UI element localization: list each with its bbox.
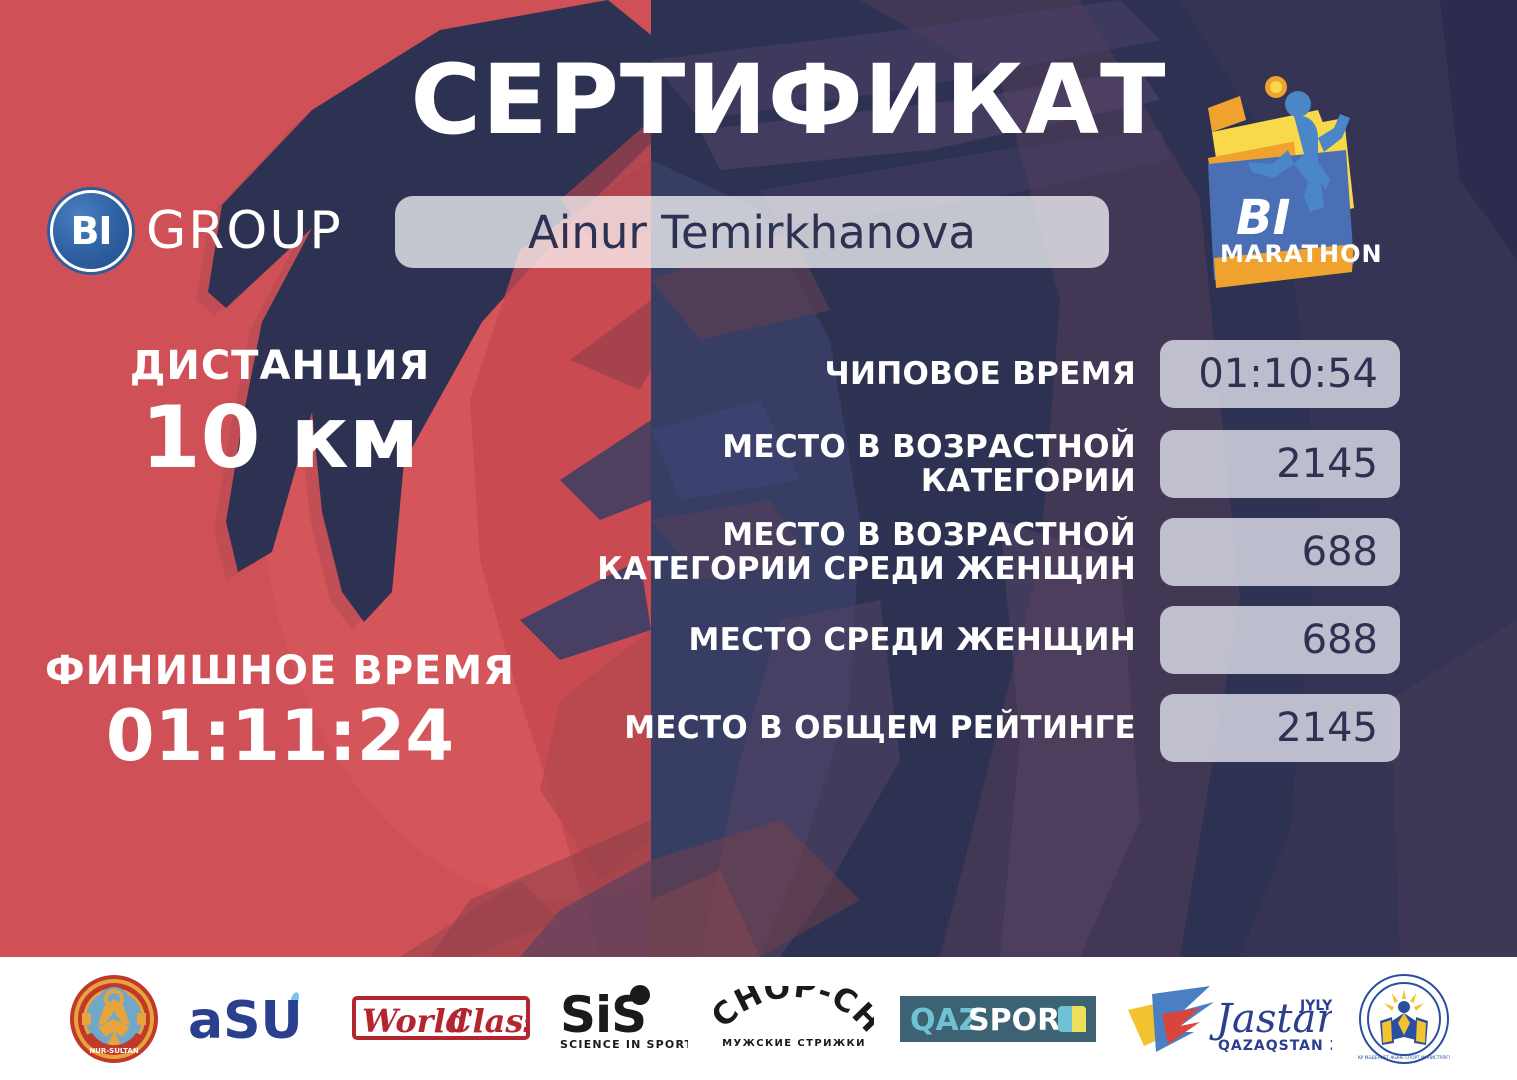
- result-value-pill: 688: [1160, 518, 1400, 586]
- stat-finish-time-label: ФИНИШНОЕ ВРЕМЯ: [0, 650, 560, 693]
- result-row-chip-time: ЧИПОВОЕ ВРЕМЯ 01:10:54: [520, 340, 1400, 408]
- bi-badge-icon: BI: [50, 190, 132, 272]
- participant-name: Ainur Temirkhanova: [528, 206, 976, 259]
- sponsor-world-class: World Class: [352, 973, 530, 1065]
- result-label: МЕСТО В ВОЗРАСТНОЙ КАТЕГОРИИ СРЕДИ ЖЕНЩИ…: [520, 518, 1160, 586]
- ministry-label: ҚР МӘДЕНИЕТ ЖӘНЕ СПОРТ МИНИСТРЛІГІ: [1358, 1055, 1450, 1060]
- result-value-pill: 01:10:54: [1160, 340, 1400, 408]
- sponsor-jastar-jyly: Jastar JYLY QAZAQSTAN 2019: [1122, 973, 1332, 1065]
- bi-marathon-logo: BI MARATHON: [1168, 58, 1383, 303]
- result-value: 688: [1302, 617, 1378, 663]
- bi-marathon-line2: MARATHON: [1220, 240, 1383, 268]
- result-label: МЕСТО В ВОЗРАСТНОЙ КАТЕГОРИИ: [520, 430, 1160, 498]
- result-value: 2145: [1276, 441, 1378, 487]
- bi-group-logo: BI GROUP: [50, 190, 343, 272]
- asu-wordmark: aSU: [188, 991, 303, 1050]
- result-value-pill: 688: [1160, 606, 1400, 674]
- chop-chop-tagline: МУЖСКИЕ СТРИЖКИ: [722, 1038, 866, 1049]
- jastar-superscript: JYLY: [1299, 998, 1332, 1014]
- certificate-card: СЕРТИФИКАТ BI GROUP Ainur Temirkhanova: [0, 0, 1517, 1080]
- result-label: МЕСТО В ОБЩЕМ РЕЙТИНГЕ: [520, 711, 1160, 745]
- result-value: 2145: [1276, 705, 1378, 751]
- result-row-age-category-place: МЕСТО В ВОЗРАСТНОЙ КАТЕГОРИИ 2145: [520, 430, 1400, 498]
- result-row-women-place: МЕСТО СРЕДИ ЖЕНЩИН 688: [520, 606, 1400, 674]
- result-label: МЕСТО СРЕДИ ЖЕНЩИН: [520, 623, 1160, 657]
- sponsor-sis: SiS SCIENCE IN SPORT: [556, 973, 688, 1065]
- sponsor-nur-sultan-emblem: NUR-SULTAN: [68, 973, 160, 1065]
- stat-distance-value: 10 км: [0, 392, 560, 485]
- result-value-pill: 2145: [1160, 430, 1400, 498]
- sis-wordmark: SiS: [560, 986, 646, 1044]
- result-label: ЧИПОВОЕ ВРЕМЯ: [520, 357, 1160, 391]
- nur-sultan-label: NUR-SULTAN: [89, 1047, 139, 1055]
- bi-group-wordmark: GROUP: [146, 201, 343, 261]
- sis-tagline: SCIENCE IN SPORT: [560, 1038, 688, 1051]
- stat-distance-label: ДИСТАНЦИЯ: [0, 345, 560, 388]
- result-value: 01:10:54: [1198, 351, 1378, 397]
- stat-distance: ДИСТАНЦИЯ 10 км: [0, 345, 560, 485]
- result-row-overall-place: МЕСТО В ОБЩЕМ РЕЙТИНГЕ 2145: [520, 694, 1400, 762]
- sponsor-chop-chop: CHOP-CHOP МУЖСКИЕ СТРИЖКИ: [714, 973, 874, 1065]
- stat-finish-time: ФИНИШНОЕ ВРЕМЯ 01:11:24: [0, 650, 560, 776]
- chop-chop-wordmark: CHOP-CHOP: [714, 986, 874, 1040]
- sponsor-footer: NUR-SULTAN aSU World Class SiS: [0, 957, 1517, 1080]
- result-value: 688: [1302, 529, 1378, 575]
- participant-name-banner: Ainur Temirkhanova: [395, 196, 1109, 268]
- sponsor-qazsport: QAZ SPORT: [900, 973, 1096, 1065]
- jastar-subtitle: QAZAQSTAN 2019: [1218, 1038, 1332, 1054]
- sponsor-ministry-emblem: ҚР МӘДЕНИЕТ ЖӘНЕ СПОРТ МИНИСТРЛІГІ: [1358, 973, 1450, 1065]
- results-list: ЧИПОВОЕ ВРЕМЯ 01:10:54 МЕСТО В ВОЗРАСТНО…: [520, 340, 1400, 774]
- bi-marathon-line1: BI: [1236, 190, 1290, 246]
- stat-finish-time-value: 01:11:24: [0, 697, 560, 775]
- world-class-wordmark-2: Class: [447, 1002, 530, 1040]
- sponsor-asu: aSU: [186, 973, 326, 1065]
- result-row-age-category-women-place: МЕСТО В ВОЗРАСТНОЙ КАТЕГОРИИ СРЕДИ ЖЕНЩИ…: [520, 518, 1400, 586]
- result-value-pill: 2145: [1160, 694, 1400, 762]
